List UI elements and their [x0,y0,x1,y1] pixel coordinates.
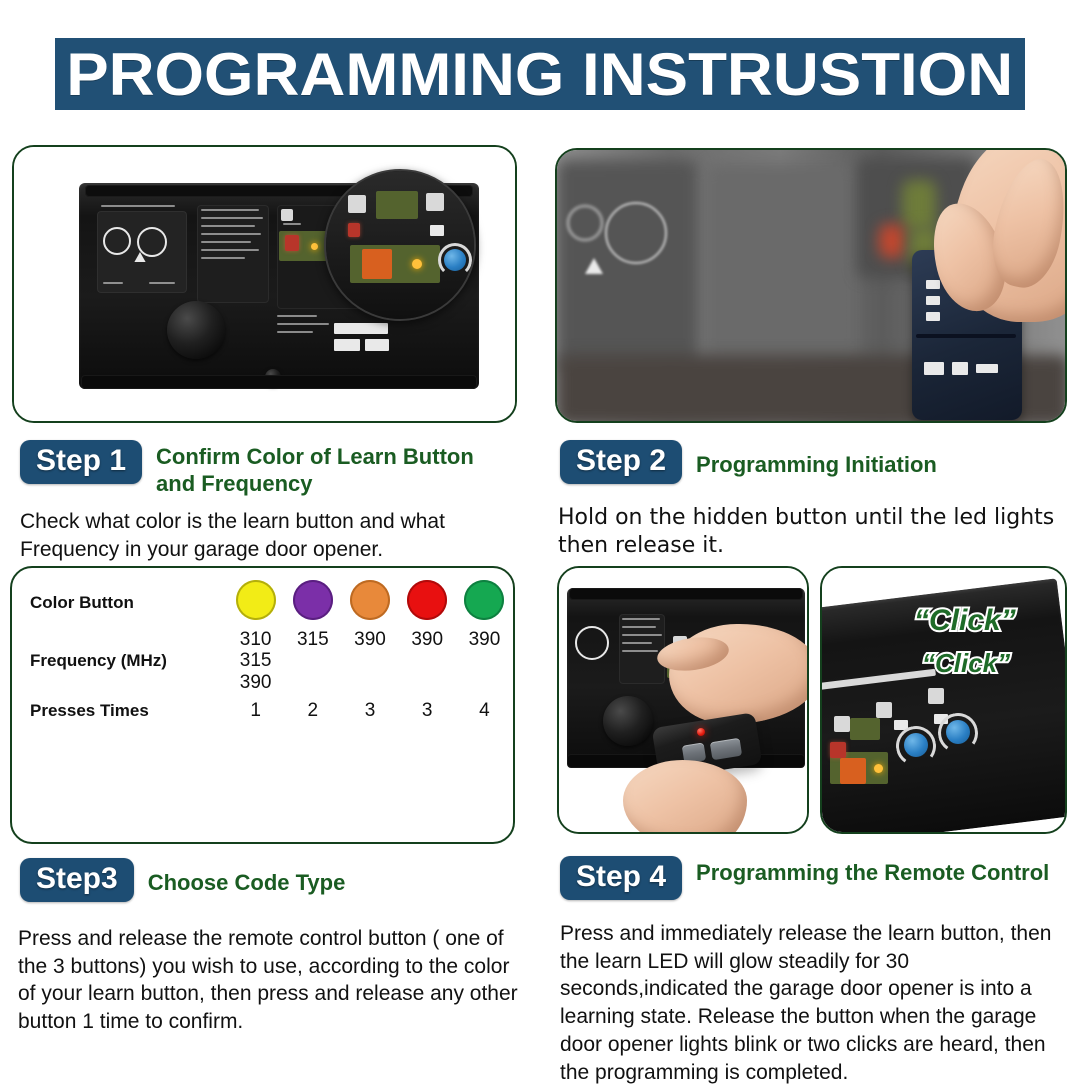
color-swatch-green [464,580,504,620]
small-red-button [830,742,846,758]
color-swatch-cells [227,580,513,625]
blur-blob-red-learn [879,224,905,258]
three-button-remote-photo [12,734,513,844]
crush-hazard-warning-icon [575,626,609,660]
remote-brand-label [924,362,944,375]
table-cell: 390 [399,629,456,693]
circuit-label-line [283,223,301,225]
learn-button [285,235,299,251]
instruction-line [622,650,658,652]
learn-led [874,764,883,773]
terminal-tab [834,716,850,732]
remote-model-label [952,362,968,375]
opener-top-rail [569,588,803,600]
remote-button-indicator [926,312,940,321]
page-title-bar: PROGRAMMING INSTRUSTION [55,38,1025,110]
blur-blob-green-pcb [902,180,936,230]
step-2-badge: Step 2 [560,440,682,484]
table-row: Color Button [12,578,513,628]
inset-terminal-2 [426,193,444,211]
remote-button-indicator [926,280,940,289]
terminal-tab [928,688,944,704]
table-cell: 3 [341,700,398,721]
warning-text-line [103,282,123,284]
presses-cells: 1 2 3 3 4 [227,700,513,721]
table-cell: 4 [456,700,513,721]
step-1-body: Check what color is the learn button and… [20,508,490,563]
step-3-header: Step3 Choose Code Type [20,858,520,902]
table-cell [456,580,513,625]
instruction-line [201,217,263,219]
blur-blob [707,164,857,364]
step-4-body: Press and immediately release the learn … [560,920,1070,1086]
warning-text-line [822,566,941,575]
step-3-badge: Step3 [20,858,134,902]
click-annotation-primary: “Click” [914,604,1016,638]
step-1-image-frame [12,145,517,423]
fcc-line [277,323,329,325]
step-3-heading: Choose Code Type [148,858,346,897]
table-cell: 390 [341,629,398,693]
instruction-line [622,626,656,628]
step-1-header: Step 1 Confirm Color of Learn Button and… [20,440,520,498]
inset-circuit-board [376,191,418,219]
inset-terminal-1 [348,195,366,213]
step-2-body: Hold on the hidden button until the led … [558,504,1058,559]
table-cell: 2 [284,700,341,721]
terminal-tab [876,702,892,718]
blurred-warning-triangle [585,258,603,274]
hand-holding-remote [623,760,747,834]
instruction-line [201,241,251,243]
instruction-text-panel [619,614,665,684]
blurred-crush-icon [605,202,667,264]
step-4-header: Step 4 Programming the Remote Control [560,856,1060,900]
pressing-learn-button-photo [559,568,807,832]
terminal-tab [281,209,293,221]
light-socket [167,301,225,359]
table-cell: 315 [284,629,341,693]
remote-cert-label [976,364,998,373]
table-cell [399,580,456,625]
table-cell: 310 315 390 [227,629,284,693]
warning-triangle-icon [134,252,145,262]
table-cell: 1 [227,700,284,721]
table-cell: 3 [399,700,456,721]
color-frequency-table: Color Button Frequency (MHz) [12,578,513,728]
row-label-frequency: Frequency (MHz) [12,651,227,671]
instruction-line [622,642,652,644]
inset-small-red-button [348,223,360,237]
step-3-table-and-photo-frame: Color Button Frequency (MHz) [10,566,515,844]
step-3-body: Press and release the remote control but… [18,925,523,1036]
opener-bottom-rail [81,375,477,389]
instruction-line [201,209,259,211]
step-2-header: Step 2 Programming Initiation [560,440,1060,484]
color-swatch-orange [350,580,390,620]
step-1-badge: Step 1 [20,440,142,484]
light-socket [603,696,653,746]
blurred-warning-icon [567,205,603,241]
remote-seam [916,334,1016,338]
color-swatch-yellow [236,580,276,620]
instruction-line [622,634,662,636]
instruction-line [201,225,255,227]
programming-instruction-poster: PROGRAMMING INSTRUSTION [0,0,1080,1080]
opener-click-photo: “Click” “Click” [822,568,1065,832]
page-title: PROGRAMMING INSTRUSTION [67,40,1014,109]
instruction-line [201,249,259,251]
row-label-presses-times: Presses Times [12,701,227,721]
step-4-badge: Step 4 [560,856,682,900]
instruction-text-panel [197,205,269,303]
blur-blob [557,160,697,370]
instruction-line [201,233,261,235]
step-4-heading: Programming the Remote Control [696,856,1049,887]
table-cell [284,580,341,625]
inset-dial-ring [438,243,472,277]
click-annotation-secondary: “Click” [922,648,1010,679]
step-4-right-image-frame: “Click” “Click” [820,566,1067,834]
instruction-line [201,257,245,259]
garage-door-opener-photo [14,147,515,421]
rating-sticker [365,339,389,351]
step-1-heading: Confirm Color of Learn Button and Freque… [156,440,516,498]
inset-learn-button [362,249,392,279]
learn-led [311,243,318,250]
step-4-left-image-frame [557,566,809,834]
hand-holding-remote-photo [557,150,1065,421]
remote-led [697,728,705,736]
color-swatch-red [407,580,447,620]
remote-button-indicator [926,296,940,305]
table-cell [341,580,398,625]
table-cell [227,580,284,625]
fcc-line [277,331,313,333]
color-swatch-purple [293,580,333,620]
step-2-image-frame [555,148,1067,423]
table-cell: 390 [456,629,513,693]
instruction-line [622,618,660,620]
row-label-color-button: Color Button [12,593,227,613]
warning-text-line [822,566,921,574]
circuit-board [850,718,880,740]
rating-sticker [334,339,360,351]
magnified-learn-button-inset [324,169,476,321]
warning-text-line [101,205,175,207]
fcc-line [277,315,317,317]
warning-text-line [822,566,931,575]
no-entry-warning-icon [103,227,131,255]
learn-button [840,758,866,784]
rating-sticker [334,323,388,334]
warning-text-line [149,282,175,284]
table-row: Frequency (MHz) 310 315 390 315 390 390 … [12,628,513,694]
table-row: Presses Times 1 2 3 3 4 [12,694,513,728]
frequency-cells: 310 315 390 315 390 390 390 [227,629,513,693]
step-2-heading: Programming Initiation [696,440,937,479]
inset-nec-label [430,225,444,236]
inset-learn-led [412,259,422,269]
